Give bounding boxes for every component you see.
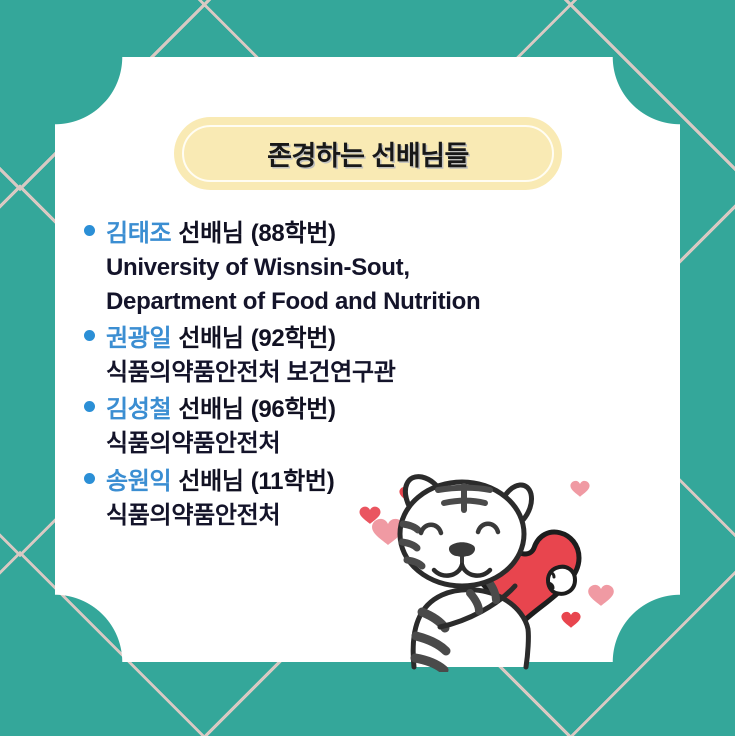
bullet-dot-icon <box>84 330 95 341</box>
list-item: 권광일 선배님 (92학번) 식품의약품안전처 보건연구관 <box>84 322 614 390</box>
mascot-illustration <box>352 462 652 672</box>
senior-heading: 김태조 선배님 (88학번) <box>84 217 614 251</box>
page-title: 존경하는 선배님들 <box>174 117 562 190</box>
list-item: 김태조 선배님 (88학번) University of Wisnsin-Sou… <box>84 217 614 319</box>
small-heart-icon <box>561 612 580 628</box>
tiger-paw <box>548 567 575 594</box>
list-item: 김성철 선배님 (96학번) 식품의약품안전처 <box>84 393 614 461</box>
senior-year: (11학번) <box>251 465 335 499</box>
poster-canvas: 존경하는 선배님들 김태조 선배님 (88학번) University of W… <box>0 0 735 736</box>
bullet-dot-icon <box>84 225 95 236</box>
senior-honorific: 선배님 <box>178 393 243 427</box>
senior-year: (88학번) <box>251 217 336 251</box>
senior-name: 김성철 <box>106 393 171 427</box>
bullet-dot-icon <box>84 401 95 412</box>
small-heart-icon <box>588 585 614 606</box>
title-pill: 존경하는 선배님들 <box>174 117 562 190</box>
senior-affiliation-line: 식품의약품안전처 보건연구관 <box>84 356 614 390</box>
senior-honorific: 선배님 <box>178 217 243 251</box>
tiger-body <box>413 590 528 670</box>
senior-year: (92학번) <box>251 322 336 356</box>
senior-year: (96학번) <box>251 393 336 427</box>
senior-honorific: 선배님 <box>178 465 243 499</box>
bullet-dot-icon <box>84 473 95 484</box>
senior-affiliation-line: Department of Food and Nutrition <box>84 285 614 319</box>
senior-name: 김태조 <box>106 217 171 251</box>
senior-name: 송원익 <box>106 465 171 499</box>
senior-heading: 권광일 선배님 (92학번) <box>84 322 614 356</box>
small-heart-icon <box>570 481 589 497</box>
senior-affiliation-line: 식품의약품안전처 <box>84 427 614 461</box>
senior-name: 권광일 <box>106 322 171 356</box>
senior-honorific: 선배님 <box>178 322 243 356</box>
senior-affiliation-line: University of Wisnsin-Sout, <box>84 251 614 285</box>
senior-heading: 김성철 선배님 (96학번) <box>84 393 614 427</box>
